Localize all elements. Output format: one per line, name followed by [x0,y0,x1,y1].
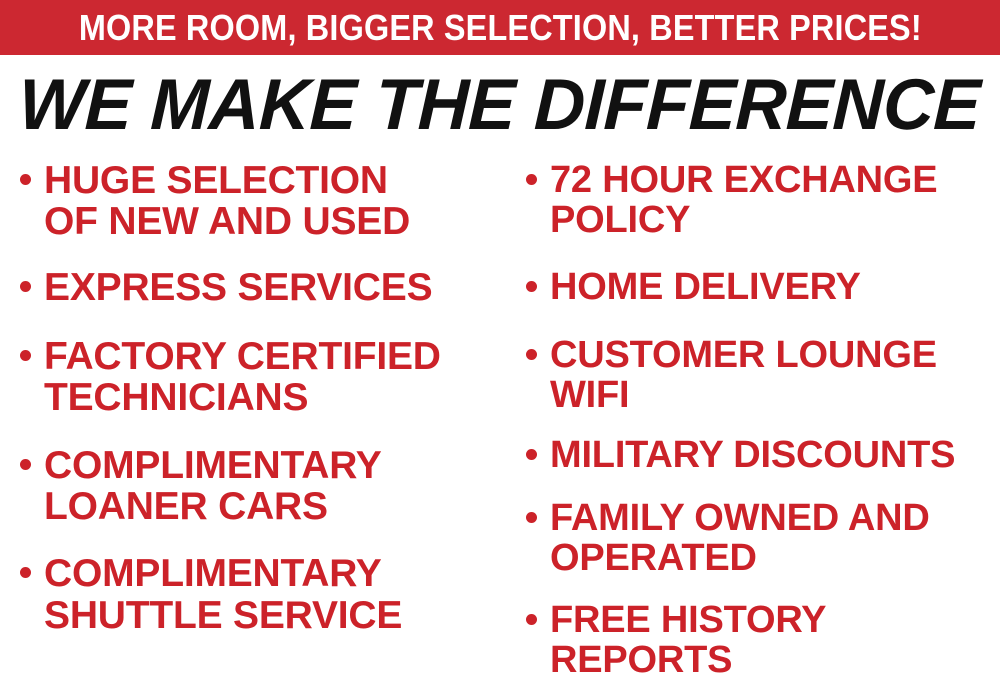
list-item: FAMILY OWNED AND OPERATED [526,498,998,579]
list-item: CUSTOMER LOUNGE WIFI [526,335,998,416]
list-item-label: CUSTOMER LOUNGE WIFI [550,335,937,416]
list-item-label: 72 HOUR EXCHANGE POLICY [550,160,937,241]
bullet-dot-icon [20,567,31,578]
bullet-dot-icon [526,614,537,625]
list-item: 72 HOUR EXCHANGE POLICY [526,160,998,241]
list-item: FACTORY CERTIFIED TECHNICIANS [20,336,496,419]
benefits-column-right: 72 HOUR EXCHANGE POLICY HOME DELIVERY CU… [500,160,1000,694]
bullet-dot-icon [526,281,537,292]
list-item-label: MILITARY DISCOUNTS [550,435,955,475]
list-item: HUGE SELECTION OF NEW AND USED [20,160,496,243]
bullet-dot-icon [526,449,537,460]
list-item-label: HUGE SELECTION OF NEW AND USED [44,160,410,243]
list-item-label: FACTORY CERTIFIED TECHNICIANS [44,336,441,419]
list-item-label: COMPLIMENTARY SHUTTLE SERVICE [44,553,402,636]
list-item-label: FREE HISTORY REPORTS [550,600,826,681]
promo-poster: MORE ROOM, BIGGER SELECTION, BETTER PRIC… [0,0,1000,694]
bullet-dot-icon [20,459,31,470]
bullet-dot-icon [526,512,537,523]
bullet-dot-icon [20,350,31,361]
list-item-label: HOME DELIVERY [550,267,861,307]
page-title: WE MAKE THE DIFFERENCE [18,69,982,141]
list-item: HOME DELIVERY [526,267,998,307]
bullet-dot-icon [526,174,537,185]
bullet-dot-icon [526,349,537,360]
list-item: MILITARY DISCOUNTS [526,435,998,475]
list-item-label: FAMILY OWNED AND OPERATED [550,498,930,579]
headline-container: WE MAKE THE DIFFERENCE [0,64,1000,146]
top-banner-text: MORE ROOM, BIGGER SELECTION, BETTER PRIC… [79,10,922,46]
list-item: EXPRESS SERVICES [20,267,496,308]
bullet-dot-icon [20,174,31,185]
list-item-label: EXPRESS SERVICES [44,267,432,308]
benefits-columns: HUGE SELECTION OF NEW AND USED EXPRESS S… [0,160,1000,694]
list-item: COMPLIMENTARY SHUTTLE SERVICE [20,553,496,636]
list-item-label: COMPLIMENTARY LOANER CARS [44,445,382,528]
benefits-column-left: HUGE SELECTION OF NEW AND USED EXPRESS S… [0,160,500,662]
list-item: FREE HISTORY REPORTS [526,600,998,681]
list-item: COMPLIMENTARY LOANER CARS [20,445,496,528]
top-banner: MORE ROOM, BIGGER SELECTION, BETTER PRIC… [0,0,1000,55]
bullet-dot-icon [20,281,31,292]
